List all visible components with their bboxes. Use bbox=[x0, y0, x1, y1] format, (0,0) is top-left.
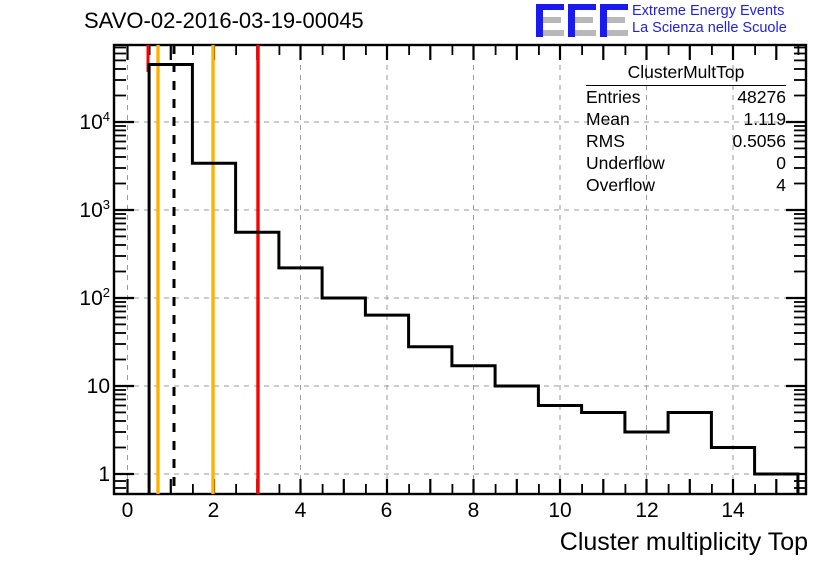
stats-row-underflow: Underflow 0 bbox=[586, 152, 786, 174]
stats-value-mean: 1.119 bbox=[744, 109, 787, 130]
stats-value-overflow: 4 bbox=[776, 175, 786, 196]
stats-row-rms: RMS 0.5056 bbox=[586, 130, 786, 152]
eee-logo-icon bbox=[536, 4, 628, 37]
stats-row-mean: Mean 1.119 bbox=[586, 108, 786, 130]
stats-value-entries: 48276 bbox=[737, 87, 786, 108]
stats-value-underflow: 0 bbox=[776, 153, 786, 174]
eee-logo: Extreme Energy Events La Scienza nelle S… bbox=[536, 3, 832, 39]
eee-logo-text: Extreme Energy Events La Scienza nelle S… bbox=[632, 3, 832, 39]
stats-value-rms: 0.5056 bbox=[732, 131, 786, 152]
x-tick-label-0: 0 bbox=[113, 499, 142, 523]
eee-logo-line1: Extreme Energy Events bbox=[632, 3, 832, 20]
eee-logo-line2: La Scienza nelle Scuole bbox=[632, 20, 832, 37]
x-tick-label-2: 2 bbox=[199, 499, 228, 523]
y-tick-label-100: 102 bbox=[79, 285, 110, 311]
x-tick-label-14: 14 bbox=[713, 499, 753, 523]
root-canvas: SAVO-02-2016-03-19-00045 bbox=[0, 0, 836, 572]
y-tick-label-1000: 103 bbox=[79, 197, 110, 223]
stats-row-overflow: Overflow 4 bbox=[586, 174, 786, 196]
y-tick-label-1: 1 bbox=[98, 463, 110, 487]
x-tick-label-8: 8 bbox=[459, 499, 488, 523]
x-tick-label-12: 12 bbox=[627, 499, 667, 523]
x-axis-title: Cluster multiplicity Top bbox=[560, 528, 808, 557]
page-title: SAVO-02-2016-03-19-00045 bbox=[84, 8, 364, 34]
stats-key-rms: RMS bbox=[586, 131, 625, 152]
stats-key-mean: Mean bbox=[586, 109, 630, 130]
stats-box: ClusterMultTop Entries 48276 Mean 1.119 … bbox=[586, 62, 786, 196]
x-tick-label-4: 4 bbox=[286, 499, 315, 523]
reference-lines bbox=[148, 45, 258, 494]
stats-title: ClusterMultTop bbox=[586, 62, 786, 86]
x-tick-label-6: 6 bbox=[372, 499, 401, 523]
stats-row-entries: Entries 48276 bbox=[586, 86, 786, 108]
x-tick-label-10: 10 bbox=[540, 499, 580, 523]
stats-key-entries: Entries bbox=[586, 87, 640, 108]
stats-key-overflow: Overflow bbox=[586, 175, 655, 196]
y-tick-label-10000: 104 bbox=[79, 109, 110, 135]
y-tick-label-10: 10 bbox=[87, 375, 110, 399]
stats-key-underflow: Underflow bbox=[586, 153, 665, 174]
